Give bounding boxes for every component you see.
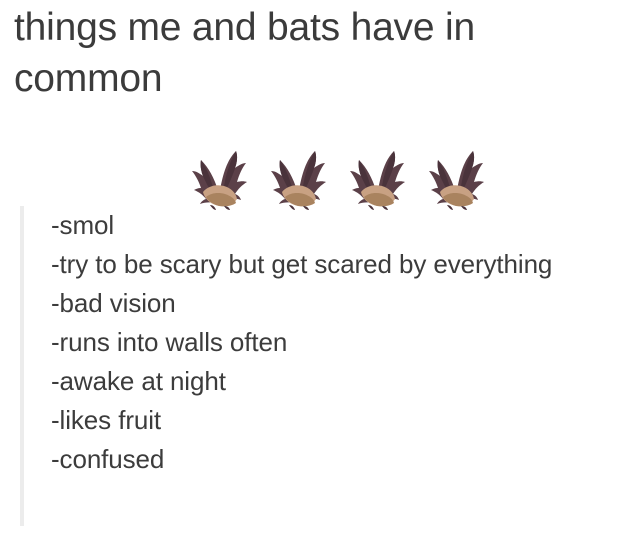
page-title: things me and bats have in common	[14, 2, 614, 104]
bat-emoji-row	[190, 138, 485, 210]
list-item: -confused	[51, 440, 620, 479]
quote-block: -smol -try to be scary but get scared by…	[20, 206, 620, 526]
traits-list: -smol -try to be scary but get scared by…	[51, 206, 620, 479]
tumblr-post: things me and bats have in common	[0, 0, 640, 536]
bat-emoji	[427, 144, 485, 210]
list-item: -smol	[51, 206, 620, 245]
bat-emoji	[269, 144, 327, 210]
list-item: -runs into walls often	[51, 323, 620, 362]
list-item: -awake at night	[51, 362, 620, 401]
list-item: -bad vision	[51, 284, 620, 323]
list-item: -try to be scary but get scared by every…	[51, 245, 620, 284]
bat-emoji	[190, 144, 248, 210]
bat-emoji	[348, 144, 406, 210]
list-item: -likes fruit	[51, 401, 620, 440]
